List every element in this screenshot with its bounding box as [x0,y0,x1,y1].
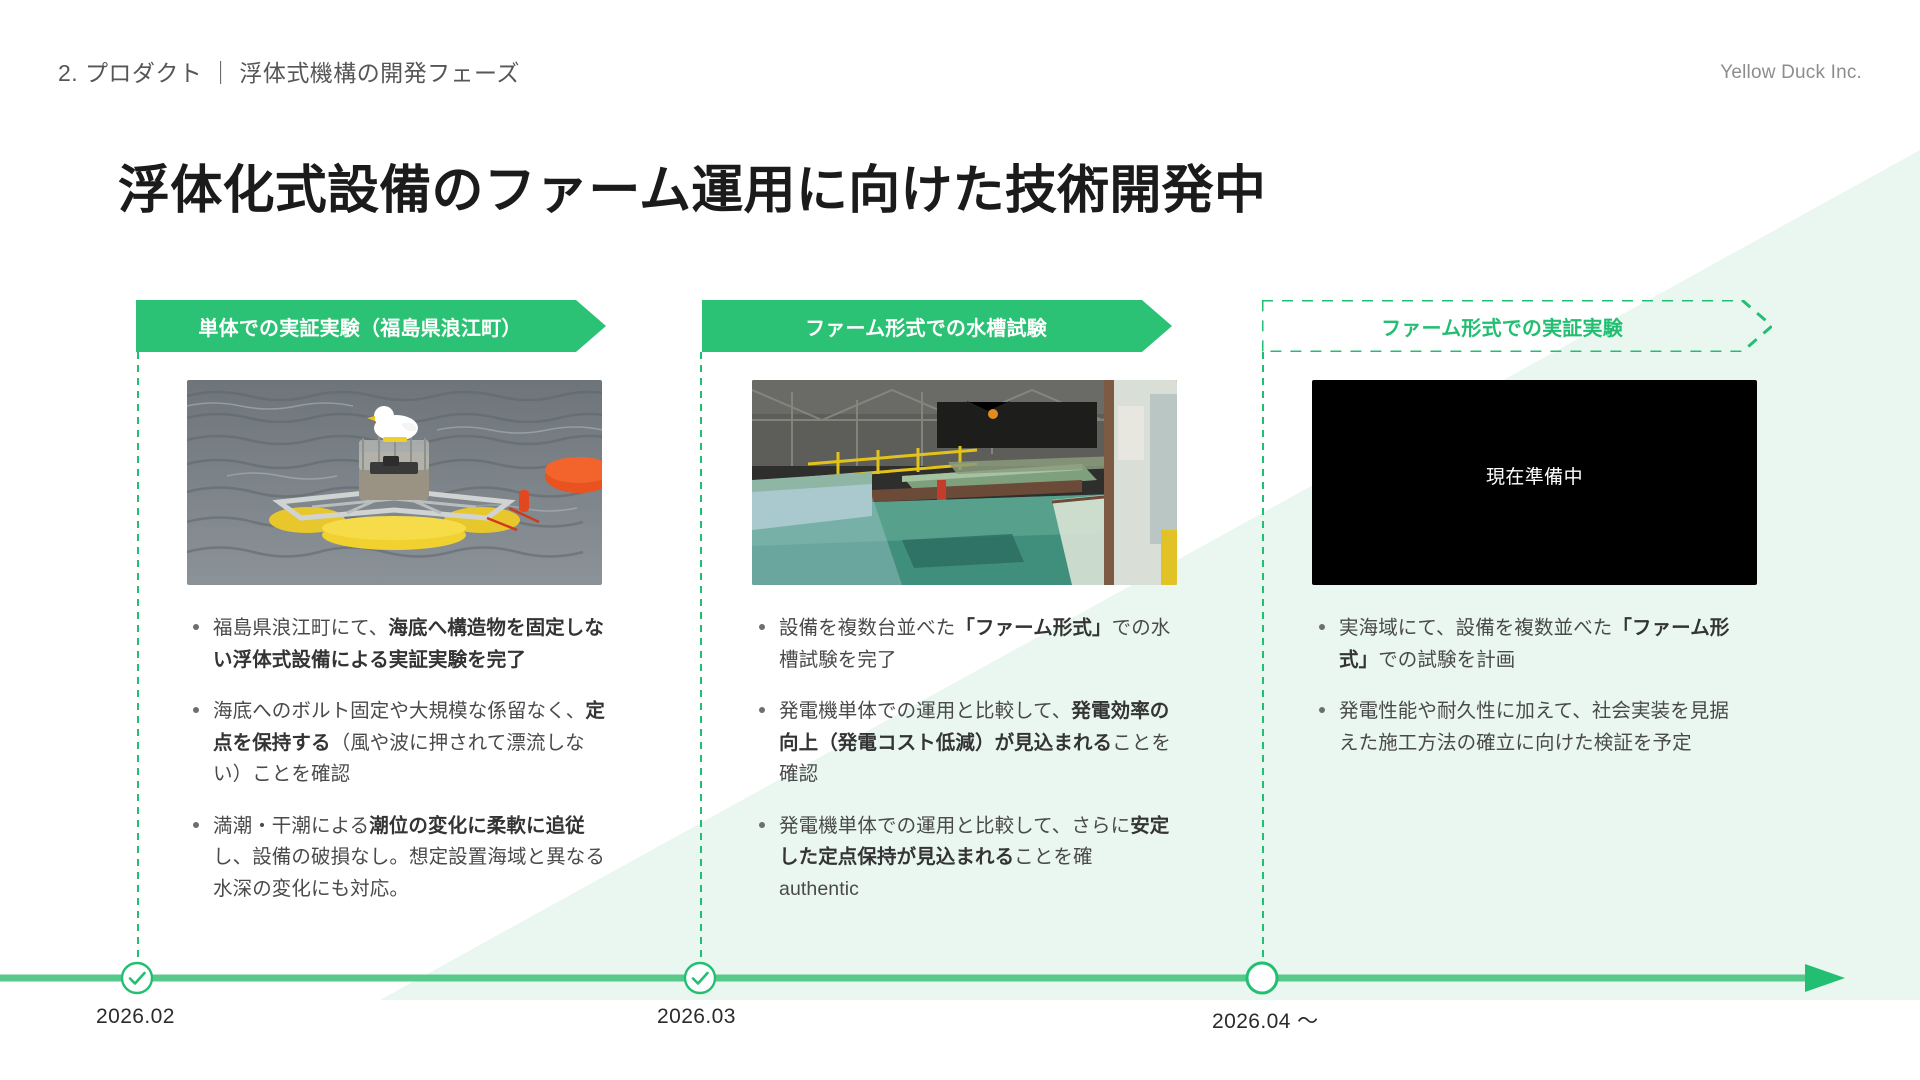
timeline-check-marker[interactable] [683,961,717,995]
phase-bullet-list: 設備を複数台並べた「ファーム形式」での水槽試験を完了発電機単体での運用と比較して… [752,613,1172,906]
bullet-text: 設備を複数台並べた [779,617,955,639]
brand-logotype: Yellow Duck Inc. [1720,52,1862,94]
phase-bullet-list: 実海域にて、設備を複数並べた「ファーム形式」での試験を計画発電性能や耐久性に加え… [1312,613,1737,759]
timeline-date-label: 2026.03 [657,1005,736,1029]
bullet-emphasis: 「ファーム形式」 [955,617,1111,639]
timeline-date-label: 2026.04 〜 [1212,1005,1319,1035]
timeline-check-marker[interactable] [120,961,154,995]
placeholder-media-box: 現在準備中 [1312,380,1757,585]
bullet-text: 福島県浪江町にて、 [213,617,388,639]
check-circle-icon [120,961,154,995]
phase-column-1: 単体での実証実験（福島県浪江町） [136,300,606,926]
bullet-text: での試験を計画 [1378,649,1515,671]
timeline-track [0,958,1920,998]
placeholder-caption: 現在準備中 [1312,462,1757,489]
phase-bullet-item: 海底へのボルト固定や大規模な係留なく、定点を保持する（風や波に押されて漂流しない… [186,696,606,791]
phase-photo [752,380,1177,585]
breadcrumb-eyebrow: 2. プロダクト ｜ 浮体式機構の開発フェーズ [58,52,1862,94]
bullet-text: 実海域にて、設備を複数並べた [1339,617,1612,639]
phase-banner-label: 単体での実証実験（福島県浪江町） [136,300,606,352]
phase-banner: ファーム形式での実証実験 [1262,300,1772,352]
phase-bullet-item: 福島県浪江町にて、海底へ構造物を固定しない浮体式設備による実証実験を完了 [186,613,606,676]
wave-tank-illustration [752,380,1177,585]
check-circle-icon [683,961,717,995]
bullet-text: 発電機単体での運用と比較して、さらに [779,815,1130,837]
phase-bullet-item: 発電機単体での運用と比較して、さらに安定した定点保持が見込まれることを確auth… [752,811,1172,906]
phase-column-2: ファーム形式での水槽試験 [702,300,1172,926]
phase-banner-label: ファーム形式での実証実験 [1262,300,1772,352]
phase-bullet-item: 満潮・干潮による潮位の変化に柔軟に追従し、設備の破損なし。想定設置海域と異なる水… [186,811,606,906]
slide-header: 2. プロダクト ｜ 浮体式機構の開発フェーズ Yellow Duck Inc. [58,52,1862,94]
phase-bullet-item: 設備を複数台並べた「ファーム形式」での水槽試験を完了 [752,613,1172,676]
bullet-text: 発電機単体での運用と比較して、 [779,700,1071,722]
bullet-text: し、設備の破損なし。想定設置海域と異なる水深の変化にも対応。 [213,846,605,900]
page-title: 浮体化式設備のファーム運用に向けた技術開発中 [118,148,1266,223]
bullet-text: 満潮・干潮による [213,815,369,837]
open-circle-icon [1245,961,1279,995]
phase-bullet-item: 発電機単体での運用と比較して、発電効率の向上（発電コスト低減）が見込まれることを… [752,696,1172,791]
phase-bullet-item: 実海域にて、設備を複数並べた「ファーム形式」での試験を計画 [1312,613,1737,676]
bullet-text: 海底へのボルト固定や大規模な係留なく、 [213,700,585,722]
sea-platform-illustration [187,380,602,585]
phase-bullet-list: 福島県浪江町にて、海底へ構造物を固定しない浮体式設備による実証実験を完了海底への… [186,613,606,906]
timeline-open-marker[interactable] [1245,961,1279,995]
phase-bullet-item: 発電性能や耐久性に加えて、社会実装を見据えた施工方法の確立に向けた検証を予定 [1312,696,1737,759]
timeline-date-label: 2026.02 [96,1005,175,1029]
bullet-emphasis: 潮位の変化に柔軟に追従 [369,815,585,837]
phase-photo [187,380,602,585]
bullet-text: 発電性能や耐久性に加えて、社会実装を見据えた施工方法の確立に向けた検証を予定 [1339,700,1729,754]
phase-banner: 単体での実証実験（福島県浪江町） [136,300,606,352]
phase-banner-label: ファーム形式での水槽試験 [702,300,1172,352]
phase-column-3: ファーム形式での実証実験現在準備中実海域にて、設備を複数並べた「ファーム形式」で… [1262,300,1772,779]
phase-banner: ファーム形式での水槽試験 [702,300,1172,352]
